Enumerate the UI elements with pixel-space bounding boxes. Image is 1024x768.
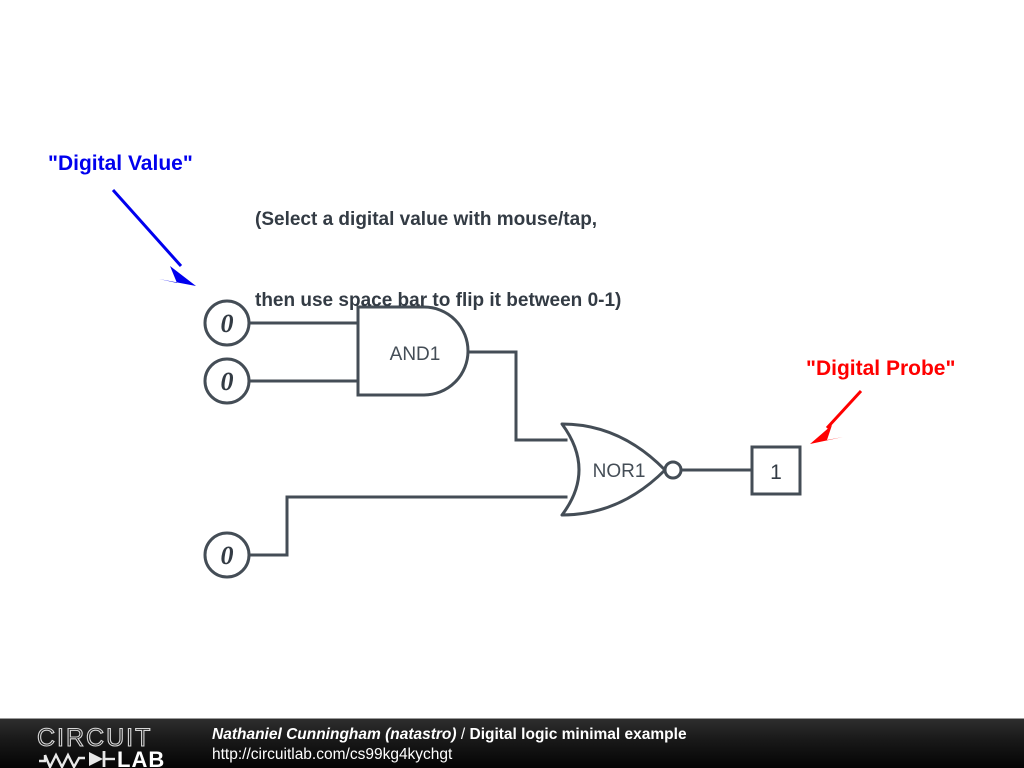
instructions-text: (Select a digital value with mouse/tap, …	[255, 152, 621, 368]
digital-probe-annotation-label: "Digital Probe"	[806, 357, 955, 381]
digital-value-annotation-label: "Digital Value"	[48, 152, 193, 176]
circuitlab-logo[interactable]: CIRCUIT LAB	[37, 724, 197, 768]
digital-value-1[interactable]: 0	[205, 301, 249, 345]
diode-icon	[89, 751, 115, 767]
digital-value-2-text: 0	[221, 367, 234, 396]
red-arrow	[810, 391, 861, 444]
nor-gate[interactable]: NOR1	[562, 424, 681, 515]
digital-value-3[interactable]: 0	[205, 533, 249, 577]
digital-probe[interactable]: 1	[752, 447, 800, 494]
digital-value-3-text: 0	[221, 541, 234, 570]
red-arrow-head-icon	[810, 425, 843, 444]
nor-gate-label: NOR1	[593, 461, 646, 482]
instructions-line-2: then use space bar to flip it between 0-…	[255, 287, 621, 314]
footer-separator: /	[457, 726, 470, 743]
blue-arrow	[113, 190, 196, 286]
footer-url[interactable]: http://circuitlab.com/cs99kg4kychgt	[212, 745, 687, 765]
footer-credit-line: Nathaniel Cunningham (natastro) / Digita…	[212, 725, 687, 745]
blue-arrow-shaft	[113, 190, 181, 266]
blue-arrow-head-icon	[159, 266, 196, 286]
footer-author: Nathaniel Cunningham (natastro)	[212, 726, 457, 743]
footer-text-block: Nathaniel Cunningham (natastro) / Digita…	[212, 725, 687, 765]
footer-title: Digital logic minimal example	[470, 726, 687, 743]
digital-value-1-text: 0	[221, 309, 234, 338]
wire-value3-to-nor	[249, 497, 566, 555]
resistor-icon	[39, 755, 85, 767]
digital-value-2[interactable]: 0	[205, 359, 249, 403]
footer-bar: CIRCUIT LAB Nathaniel Cunningham (natast…	[0, 718, 1024, 768]
logo-wordmark-lab: LAB	[117, 747, 165, 768]
nor-gate-inversion-bubble-icon	[665, 462, 681, 478]
digital-probe-value: 1	[770, 461, 782, 484]
instructions-line-1: (Select a digital value with mouse/tap,	[255, 206, 621, 233]
red-arrow-shaft	[827, 391, 861, 428]
schematic-canvas[interactable]: 0 0 0 AND1 NOR1 1	[0, 0, 1024, 718]
